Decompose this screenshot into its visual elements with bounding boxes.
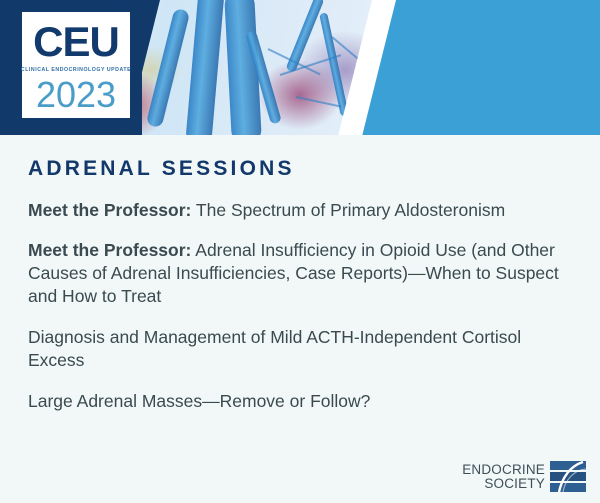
banner-cyan-panel	[362, 0, 600, 135]
org-name-line-1: ENDOCRINE	[462, 463, 545, 477]
session-item: Meet the Professor: The Spectrum of Prim…	[28, 199, 572, 222]
page-title: ADRENAL SESSIONS	[28, 157, 572, 181]
session-item: Diagnosis and Management of Mild ACTH-In…	[28, 326, 572, 372]
session-lead: Meet the Professor:	[28, 240, 191, 260]
endocrine-society-wordmark: ENDOCRINE SOCIETY	[462, 463, 545, 491]
session-text: Large Adrenal Masses—Remove or Follow?	[28, 391, 370, 411]
header-banner: CEU CLINICAL ENDOCRINOLOGY UPDATE 2023	[0, 0, 600, 135]
vessel-shape	[185, 0, 225, 135]
session-text: Diagnosis and Management of Mild ACTH-In…	[28, 327, 521, 370]
org-name-line-2: SOCIETY	[484, 477, 545, 491]
ceu-logo: CEU CLINICAL ENDOCRINOLOGY UPDATE 2023	[22, 12, 130, 118]
ceu-logo-title: CEU	[33, 21, 119, 63]
endocrine-society-globe-icon	[550, 461, 586, 493]
session-text: The Spectrum of Primary Aldosteronism	[191, 200, 505, 220]
endocrine-society-logo: ENDOCRINE SOCIETY	[462, 461, 586, 493]
session-item: Meet the Professor: Adrenal Insufficienc…	[28, 239, 572, 308]
sessions-content: ADRENAL SESSIONS Meet the Professor: The…	[0, 135, 600, 503]
session-item: Large Adrenal Masses—Remove or Follow?	[28, 390, 572, 413]
ceu-logo-tagline: CLINICAL ENDOCRINOLOGY UPDATE	[21, 67, 131, 73]
ceu-logo-year: 2023	[36, 77, 116, 113]
capillary-shape	[296, 96, 341, 108]
session-lead: Meet the Professor:	[28, 200, 191, 220]
